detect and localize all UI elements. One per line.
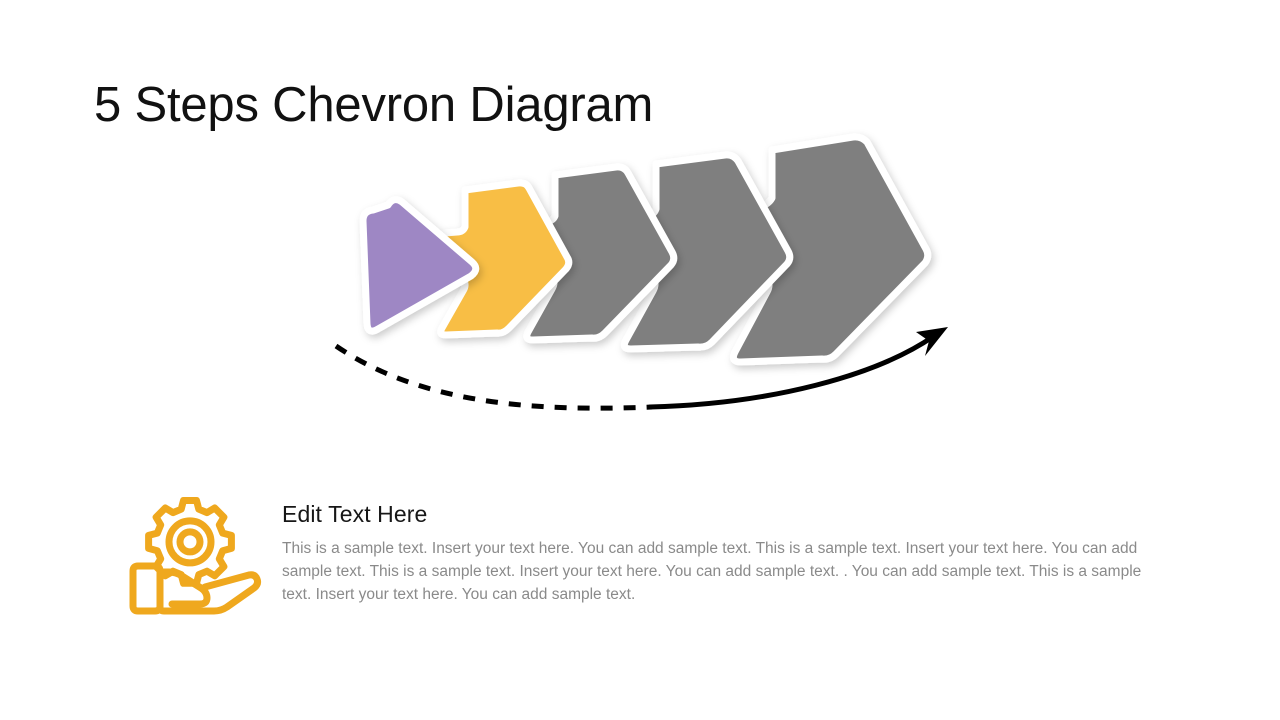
hand-cuff-icon <box>133 566 160 611</box>
flow-arrow-dashed-segment <box>336 346 652 408</box>
content-text-group: Edit Text Here This is a sample text. In… <box>282 499 1147 606</box>
slide-canvas: 5 Steps Chevron Diagram <box>0 0 1280 720</box>
flow-arrow-svg <box>300 300 1000 440</box>
content-heading: Edit Text Here <box>282 499 1147 529</box>
gear-hub-icon <box>180 532 200 552</box>
flow-arrow <box>300 300 1000 440</box>
hand-holding-gear-icon <box>125 487 265 615</box>
flow-arrowhead-icon <box>916 327 948 356</box>
content-block: Edit Text Here This is a sample text. In… <box>125 487 1155 617</box>
gear-middle-ring-icon <box>169 521 211 563</box>
flow-arrow-solid-segment <box>650 336 934 407</box>
content-paragraph: This is a sample text. Insert your text … <box>282 537 1147 606</box>
hand-holding-gear-svg <box>125 487 265 615</box>
